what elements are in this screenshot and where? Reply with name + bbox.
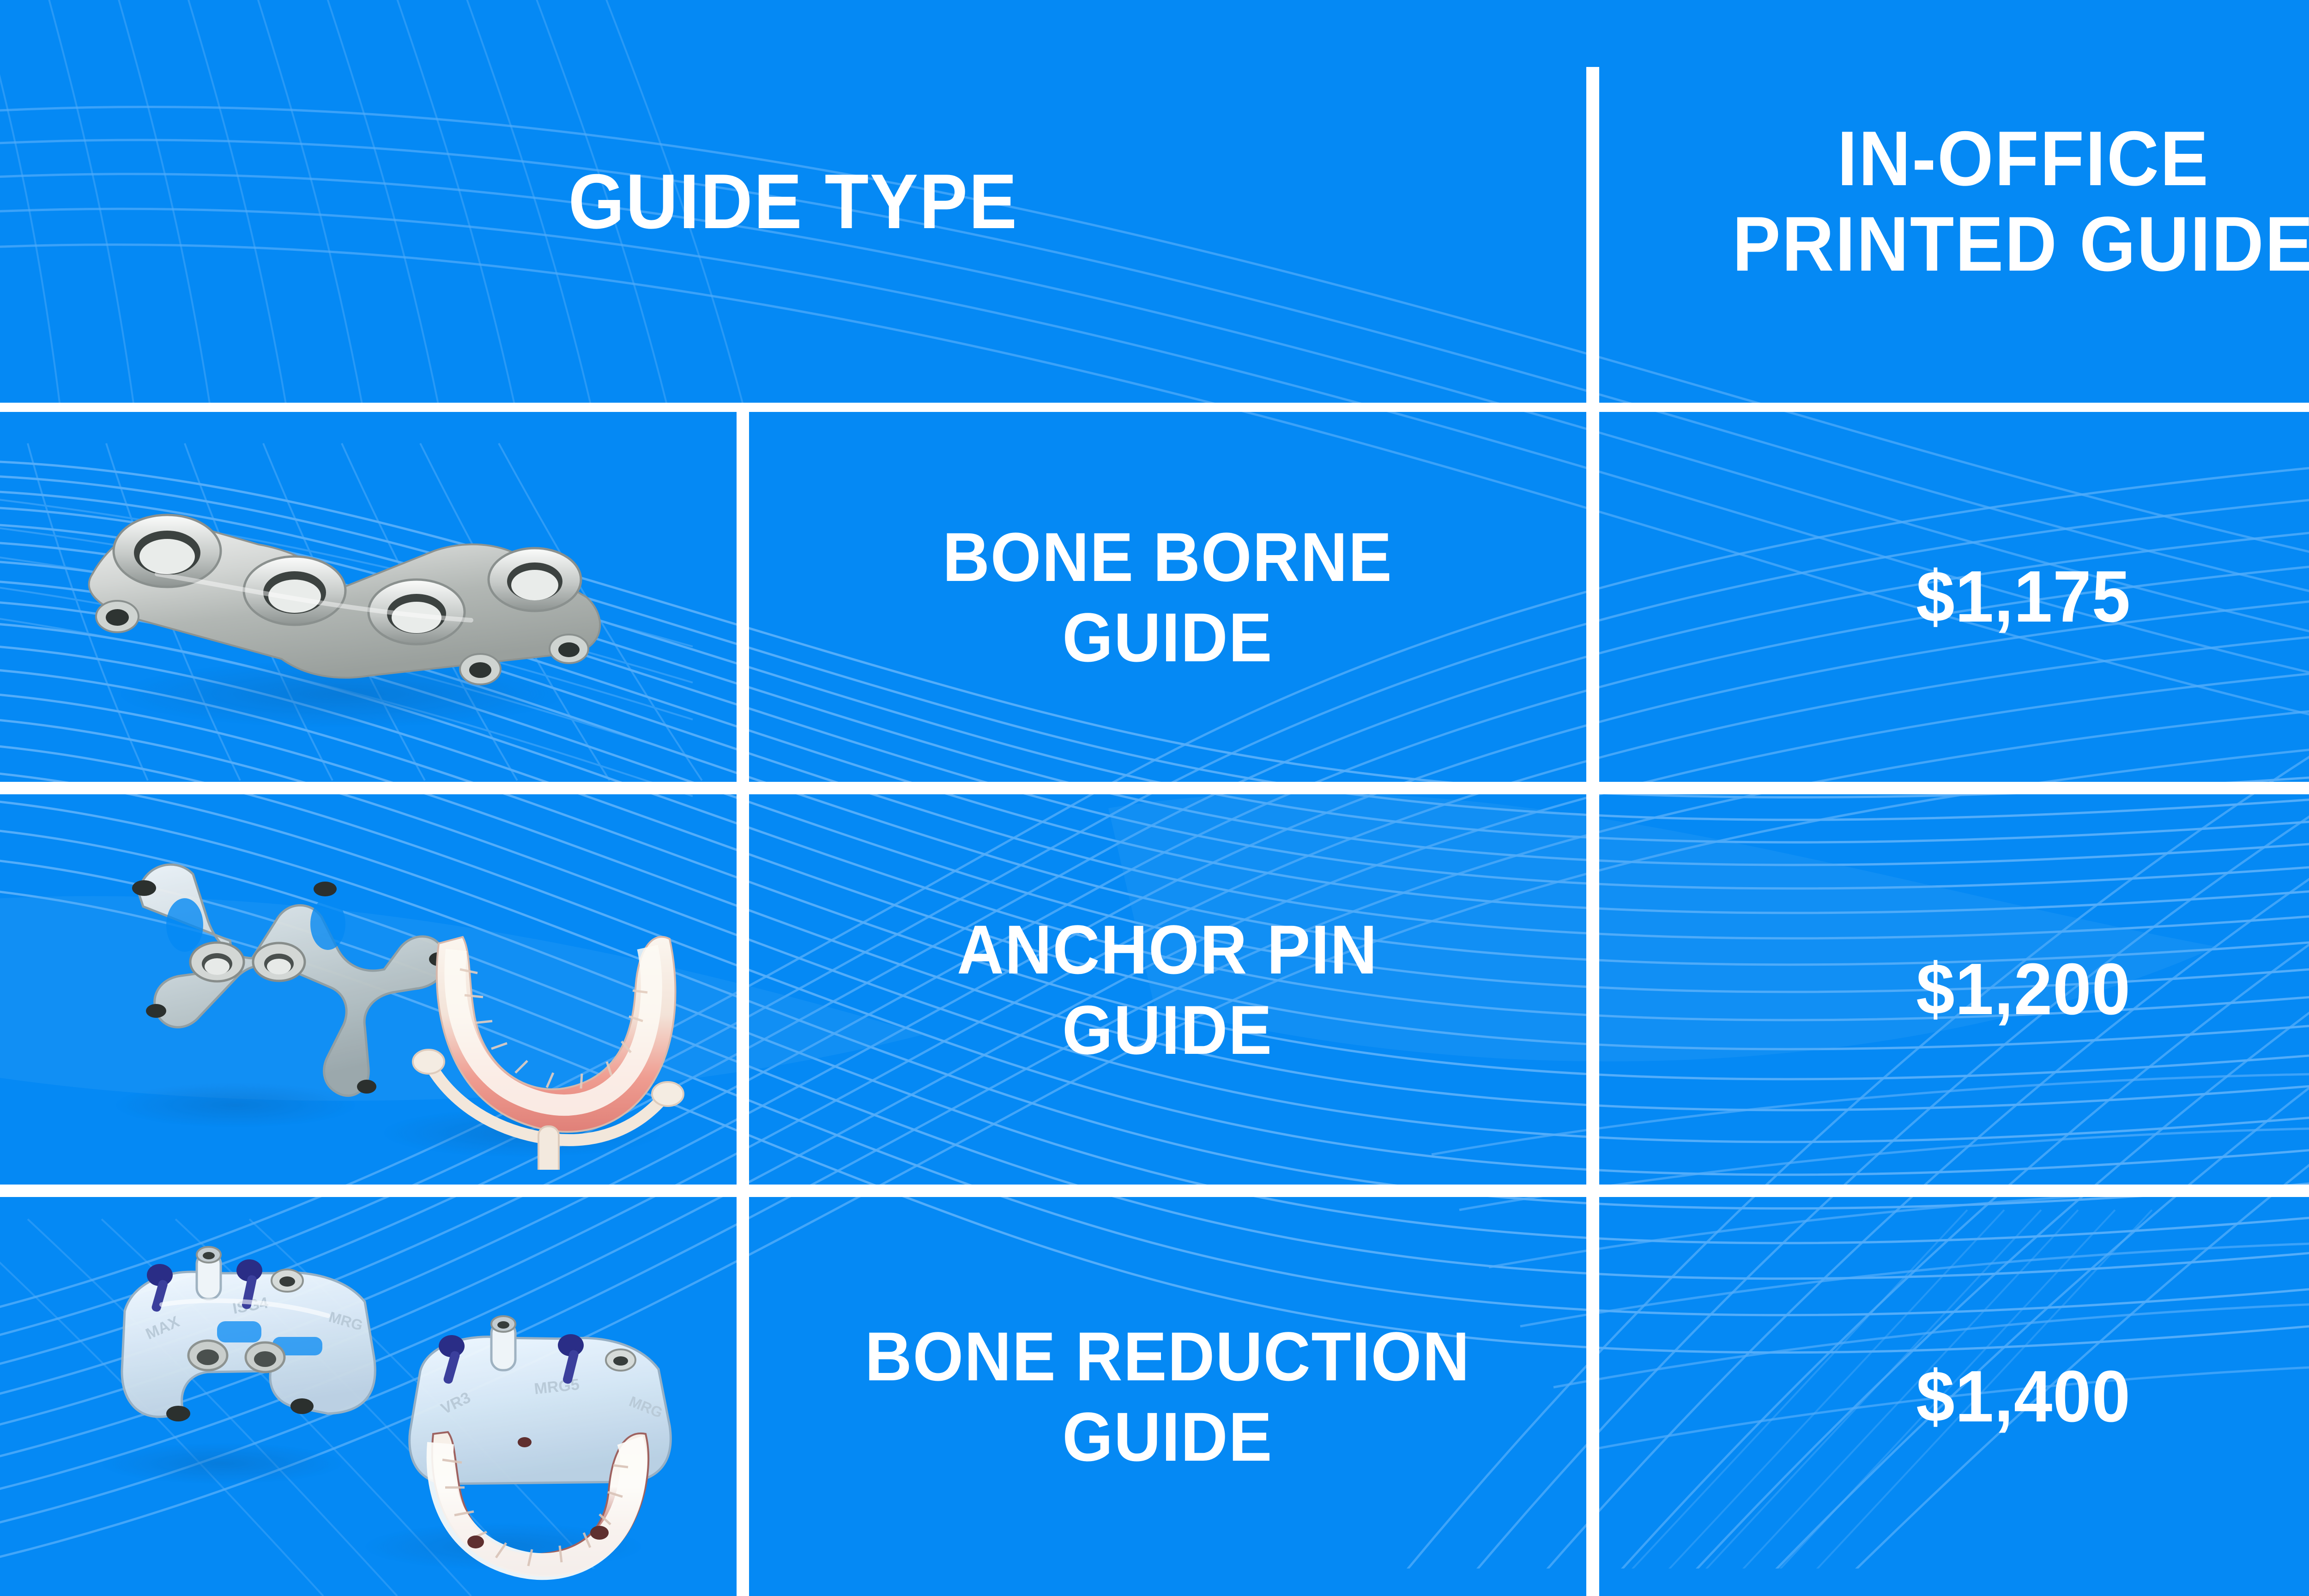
row-1-product-image-cell xyxy=(0,412,737,782)
row-3-product-image-cell: MAX ISG4 MRG xyxy=(0,1197,737,1596)
row-1-in-office-price: $1,175 xyxy=(1599,412,2309,782)
bone-reduction-guide-photo: MAX ISG4 MRG xyxy=(69,1205,734,1588)
row-3-guide-type: BONE REDUCTION GUIDE xyxy=(749,1197,1586,1596)
row-2-product-image-cell xyxy=(0,794,737,1185)
anchor-pin-guide-photo xyxy=(69,810,734,1170)
row-1-guide-type-label: BONE BORNE GUIDE xyxy=(943,517,1393,677)
divider-body-col1-col2 xyxy=(1586,412,1599,1596)
row-1-guide-type: BONE BORNE GUIDE xyxy=(749,412,1586,782)
divider-row2-row3 xyxy=(0,1185,2309,1197)
row-2-guide-type: ANCHOR PIN GUIDE xyxy=(749,794,1586,1185)
header-in-office-label: IN-OFFICE PRINTED GUIDE xyxy=(1732,116,2309,287)
row-1-in-office-price-value: $1,175 xyxy=(1916,557,2131,636)
row-2-guide-type-label: ANCHOR PIN GUIDE xyxy=(957,909,1378,1070)
divider-body-image-col xyxy=(737,412,749,1596)
divider-row1-row2 xyxy=(0,782,2309,794)
row-3-in-office-price: $1,400 xyxy=(1599,1197,2309,1596)
header-guide-type-label: GUIDE TYPE xyxy=(568,159,1018,244)
divider-header-col1-col2 xyxy=(1586,67,1599,403)
row-2-in-office-price: $1,200 xyxy=(1599,794,2309,1185)
header-in-office-printed-guide: IN-OFFICE PRINTED GUIDE xyxy=(1599,0,2309,403)
divider-header-bottom xyxy=(0,403,2309,412)
bone-borne-guide-photo xyxy=(18,435,674,759)
row-3-guide-type-label: BONE REDUCTION GUIDE xyxy=(865,1316,1470,1477)
row-2-in-office-price-value: $1,200 xyxy=(1916,950,2131,1029)
row-3-in-office-price-value: $1,400 xyxy=(1916,1357,2131,1436)
pricing-comparison-table: GUIDE TYPE IN-OFFICE PRINTED GUIDE IMPLA… xyxy=(0,0,2309,1596)
header-guide-type: GUIDE TYPE xyxy=(0,0,1586,403)
